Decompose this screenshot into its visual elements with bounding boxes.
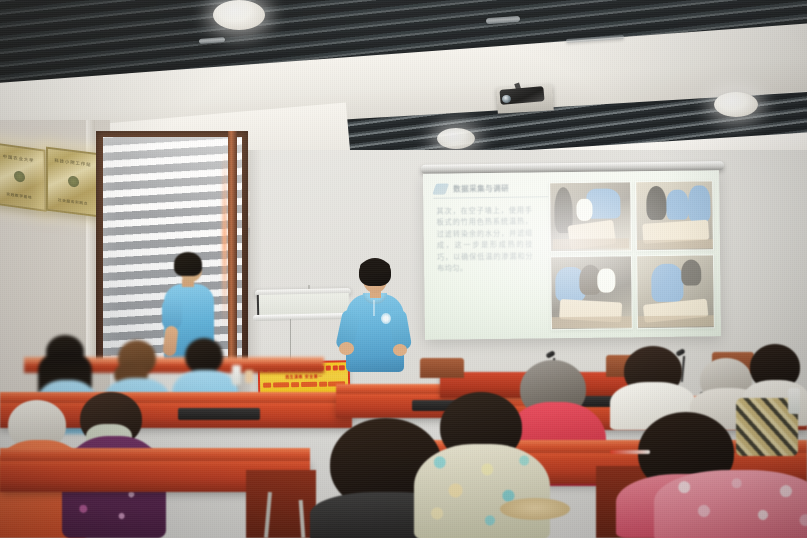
round-ceiling-light-1	[213, 0, 265, 30]
slide-body-text: 其次，在空子墙上，使用手板式的竹用色热系统温热，过滤转染余的水分，并滤组成，这一…	[436, 204, 533, 274]
presenter-right-hand	[393, 344, 407, 356]
slide-photo-top-right	[635, 180, 714, 251]
window-edge-light	[222, 150, 227, 330]
plaque-2-top-text: 科技小院工作站	[48, 157, 98, 169]
wall-plaque-2: 科技小院工作站 社会服务实践点	[46, 147, 100, 218]
attendee-straw-hat	[500, 498, 570, 520]
attendee-teal-floral-pattern	[416, 450, 548, 538]
front-desk-cup	[245, 370, 253, 383]
banner-row-2	[263, 381, 345, 387]
plaque-2-bottom-text: 社会服务实践点	[48, 197, 98, 208]
presenter-fringe	[360, 260, 390, 273]
presenter	[337, 258, 411, 390]
chair-back-wood-3	[420, 358, 464, 378]
wall-plaque-1: 中国农业大学 实践教学基地	[0, 142, 47, 212]
projector-lens-icon	[502, 95, 511, 103]
presenter-chest-logo-icon	[381, 313, 391, 324]
slide-photo-top-left	[549, 181, 632, 252]
round-ceiling-light-2	[714, 92, 758, 117]
desk-red-pen	[610, 450, 650, 454]
assistant-hair	[174, 252, 202, 276]
banner-caption: 逃生演练 安全第一	[260, 373, 348, 381]
front-desk-bottle	[232, 365, 241, 385]
presenter-placket	[373, 300, 375, 316]
desk-tray-3	[178, 408, 260, 420]
plaque-emblem-icon	[14, 170, 25, 183]
slide-photo-bottom-left	[550, 255, 633, 330]
attendee-pink-floral-pattern	[658, 474, 807, 538]
slide-title-divider	[433, 196, 548, 198]
presentation-logo-icon	[432, 183, 449, 194]
lecture-hall-photo: 中国农业大学 实践教学基地 科技小院工作站 社会服务实践点 逃生演练 安全第一	[0, 0, 807, 538]
slide-title: 数据采集与调研	[453, 183, 509, 195]
projection-screen: 数据采集与调研 其次，在空子墙上，使用手板式的竹用色热系统温热，过滤转染余的水分…	[423, 170, 721, 340]
desk-water-bottle	[788, 388, 800, 414]
desk-side-panel	[246, 470, 316, 538]
plaque-1-top-text: 中国农业大学	[0, 152, 44, 165]
round-ceiling-light-3	[437, 128, 475, 149]
plaque-1-bottom-text: 实践教学基地	[0, 191, 44, 203]
slide-photo-bottom-right	[636, 254, 715, 329]
window-mullion	[228, 131, 237, 365]
plaque-emblem-icon	[68, 175, 79, 187]
presenter-left-hand	[339, 342, 354, 355]
